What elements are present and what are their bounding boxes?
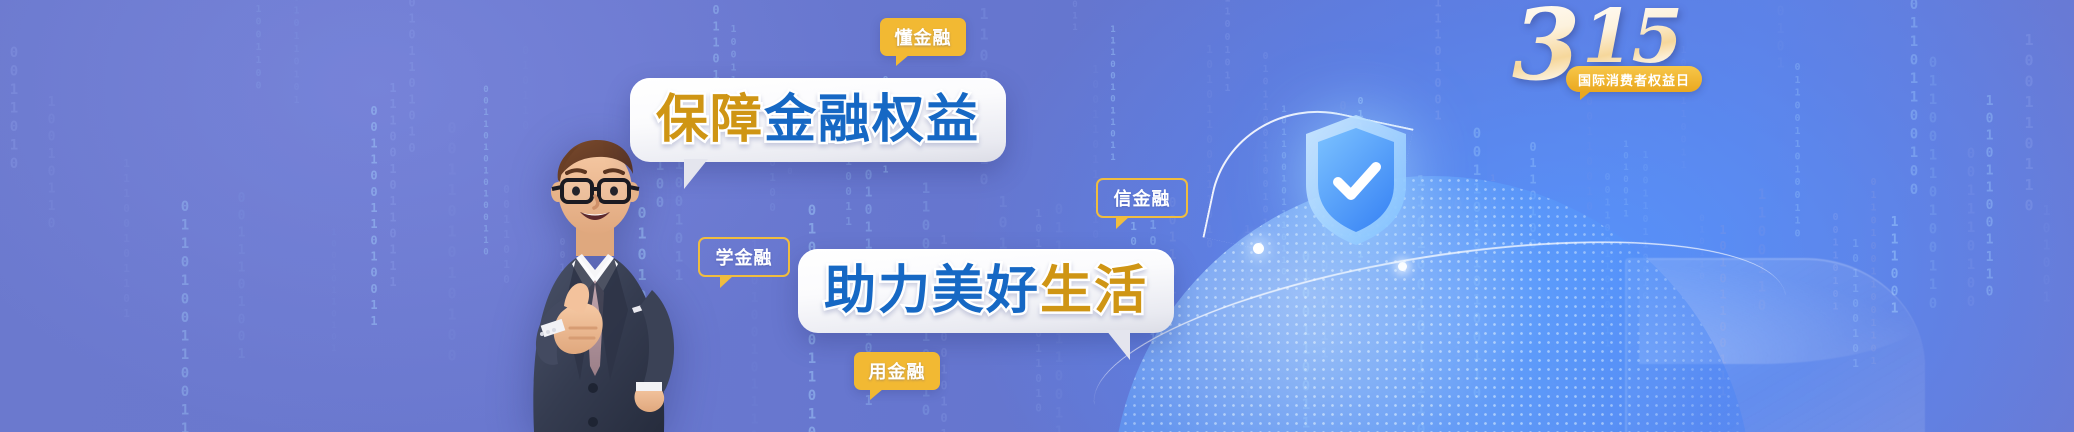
headline-2-blue-text: 助力美好 <box>824 265 1040 317</box>
binary-column: 0110100110011 <box>177 199 193 432</box>
comet-node-dot <box>1253 243 1264 254</box>
binary-column: 101011001110 <box>1982 94 1997 302</box>
binary-column: 0011101001 <box>234 191 249 364</box>
binary-column: 10010110101 <box>291 0 302 108</box>
binary-column: 001110100 <box>1963 146 1979 313</box>
binary-column: 1010011 <box>1621 140 1631 221</box>
banner-315-financial-rights: 0011010100101101110010110101101001100110… <box>0 0 2074 432</box>
tag-xue-jinrong: 学金融 <box>698 237 790 277</box>
orbit-node-dot <box>1398 262 1407 271</box>
headline-1-gold-text: 保障 <box>656 94 764 146</box>
binary-column: 0011101001 <box>1431 0 1445 125</box>
binary-column: 01100110100110 <box>1792 62 1803 241</box>
binary-column: 1001101100100 <box>1906 0 1922 201</box>
logo-ribbon-label: 国际消费者权益日 <box>1566 66 1702 92</box>
headline-2-gold-text: 生活 <box>1040 265 1148 317</box>
logo-315: 3 15 国际消费者权益日 <box>1508 0 1698 102</box>
binary-column: 10010110101 <box>329 228 339 356</box>
tag-dong-jinrong: 懂金融 <box>880 18 966 56</box>
binary-column: 11100101101 <box>120 157 133 322</box>
headline-bubble-primary: 保障 金融权益 <box>630 78 1006 162</box>
binary-column: 1011001011 <box>1222 0 1233 96</box>
binary-column: 100110110 <box>2020 31 2038 217</box>
tag-xin-jinrong: 信金融 <box>1096 178 1188 218</box>
binary-column: 001101010100 <box>443 119 461 367</box>
binary-column: 1110010110111 <box>386 81 400 291</box>
tag-yong-jinrong: 用金融 <box>854 352 940 390</box>
binary-column: 11001100 <box>253 0 264 93</box>
binary-column: 010110 <box>519 44 532 134</box>
binary-column: 00110011010011 <box>367 104 381 330</box>
binary-column: 111001011011 <box>1108 25 1118 164</box>
headline-1-blue-text: 金融权益 <box>764 94 980 146</box>
shield-check-icon <box>1300 112 1412 248</box>
binary-column: 10010110 <box>44 95 59 234</box>
mascot-businessman-thumbs-up <box>480 130 710 432</box>
headline-bubble-secondary: 助力美好 生活 <box>798 249 1174 333</box>
binary-column: 101001 <box>2039 204 2054 308</box>
binary-column: 100101101010 <box>405 0 419 157</box>
binary-column: 0011010 <box>6 45 22 175</box>
binary-column: 101011 <box>1070 0 1080 35</box>
binary-column: 010101 <box>1773 0 1788 74</box>
